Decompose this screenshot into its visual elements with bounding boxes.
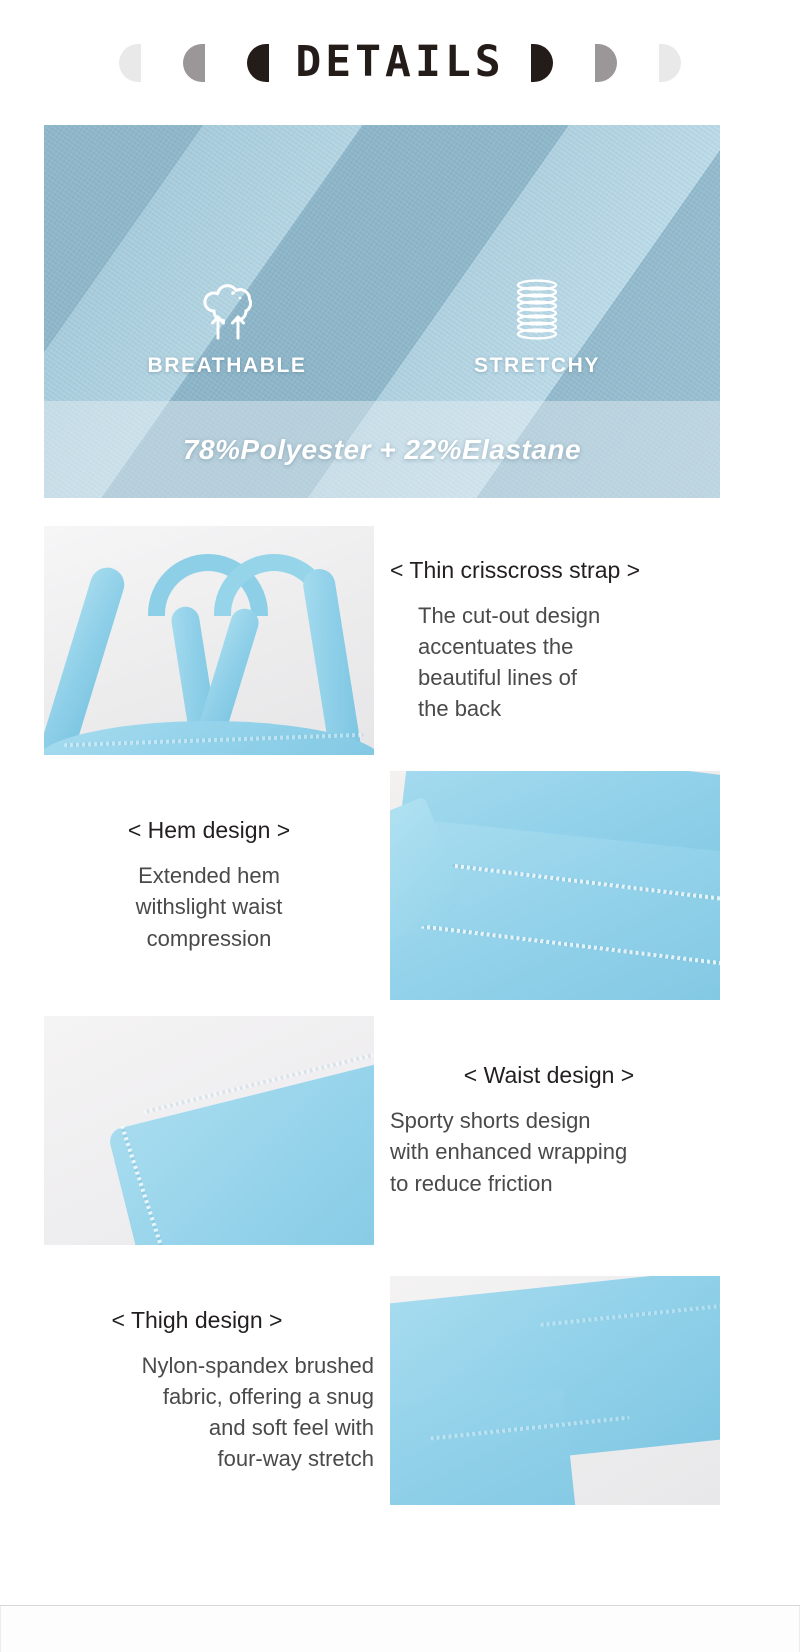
details-header: DETAILS: [0, 0, 800, 125]
half-circle-gray-left-icon: [183, 44, 205, 82]
feature-body: The cut-out design accentuates the beaut…: [390, 600, 730, 725]
half-circle-gray-right-icon: [595, 44, 617, 82]
feature-text-hem-design: < Hem design > Extended hem withslight w…: [44, 771, 374, 1000]
breathable-cloud-icon: [196, 275, 258, 341]
half-circle-faint-right-icon: [659, 44, 681, 82]
feature-title: < Thigh design >: [20, 1307, 374, 1334]
page-title: DETAILS: [269, 41, 530, 84]
banner-feature-label: STRETCHY: [474, 354, 600, 378]
feature-title: < Thin crisscross strap >: [390, 557, 730, 584]
banner-feature-stretchy: STRETCHY: [457, 275, 617, 378]
fabric-composition-strip: 78%Polyester + 22%Elastane: [44, 401, 720, 498]
fabric-composition-text: 78%Polyester + 22%Elastane: [183, 434, 581, 466]
banner-feature-label: BREATHABLE: [147, 354, 306, 378]
feature-body: Sporty shorts design with enhanced wrapp…: [390, 1105, 730, 1199]
stretchy-spring-icon: [507, 275, 567, 341]
half-circle-dark-right-icon: [531, 44, 553, 82]
feature-row-thigh-design: < Thigh design > Nylon-spandex brushed f…: [0, 1276, 800, 1505]
feature-text-thin-crisscross-strap: < Thin crisscross strap > The cut-out de…: [390, 526, 730, 755]
header-decorations-right: [531, 44, 681, 82]
product-details-page: DETAILS: [0, 0, 800, 1652]
hem-design-photo: [390, 771, 720, 1000]
half-circle-dark-left-icon: [247, 44, 269, 82]
feature-row-thin-crisscross-strap: < Thin crisscross strap > The cut-out de…: [0, 526, 800, 755]
fabric-banner: BREATHABLE: [44, 125, 720, 498]
waist-design-photo: [44, 1016, 374, 1245]
header-decorations-left: [119, 44, 269, 82]
banner-feature-breathable: BREATHABLE: [147, 275, 307, 378]
feature-title: < Hem design >: [44, 817, 374, 844]
banner-feature-list: BREATHABLE: [44, 275, 720, 378]
crisscross-strap-photo: [44, 526, 374, 755]
feature-body: Nylon-spandex brushed fabric, offering a…: [20, 1350, 374, 1475]
feature-row-hem-design: < Hem design > Extended hem withslight w…: [0, 771, 800, 1000]
half-circle-faint-left-icon: [119, 44, 141, 82]
feature-row-waist-design: < Waist design > Sporty shorts design wi…: [0, 1016, 800, 1245]
page-bottom-area: [0, 1606, 800, 1652]
feature-title: < Waist design >: [390, 1062, 730, 1089]
feature-text-thigh-design: < Thigh design > Nylon-spandex brushed f…: [20, 1276, 374, 1505]
feature-body: Extended hem withslight waist compressio…: [44, 860, 374, 954]
feature-text-waist-design: < Waist design > Sporty shorts design wi…: [390, 1016, 730, 1245]
thigh-design-photo: [390, 1276, 720, 1505]
